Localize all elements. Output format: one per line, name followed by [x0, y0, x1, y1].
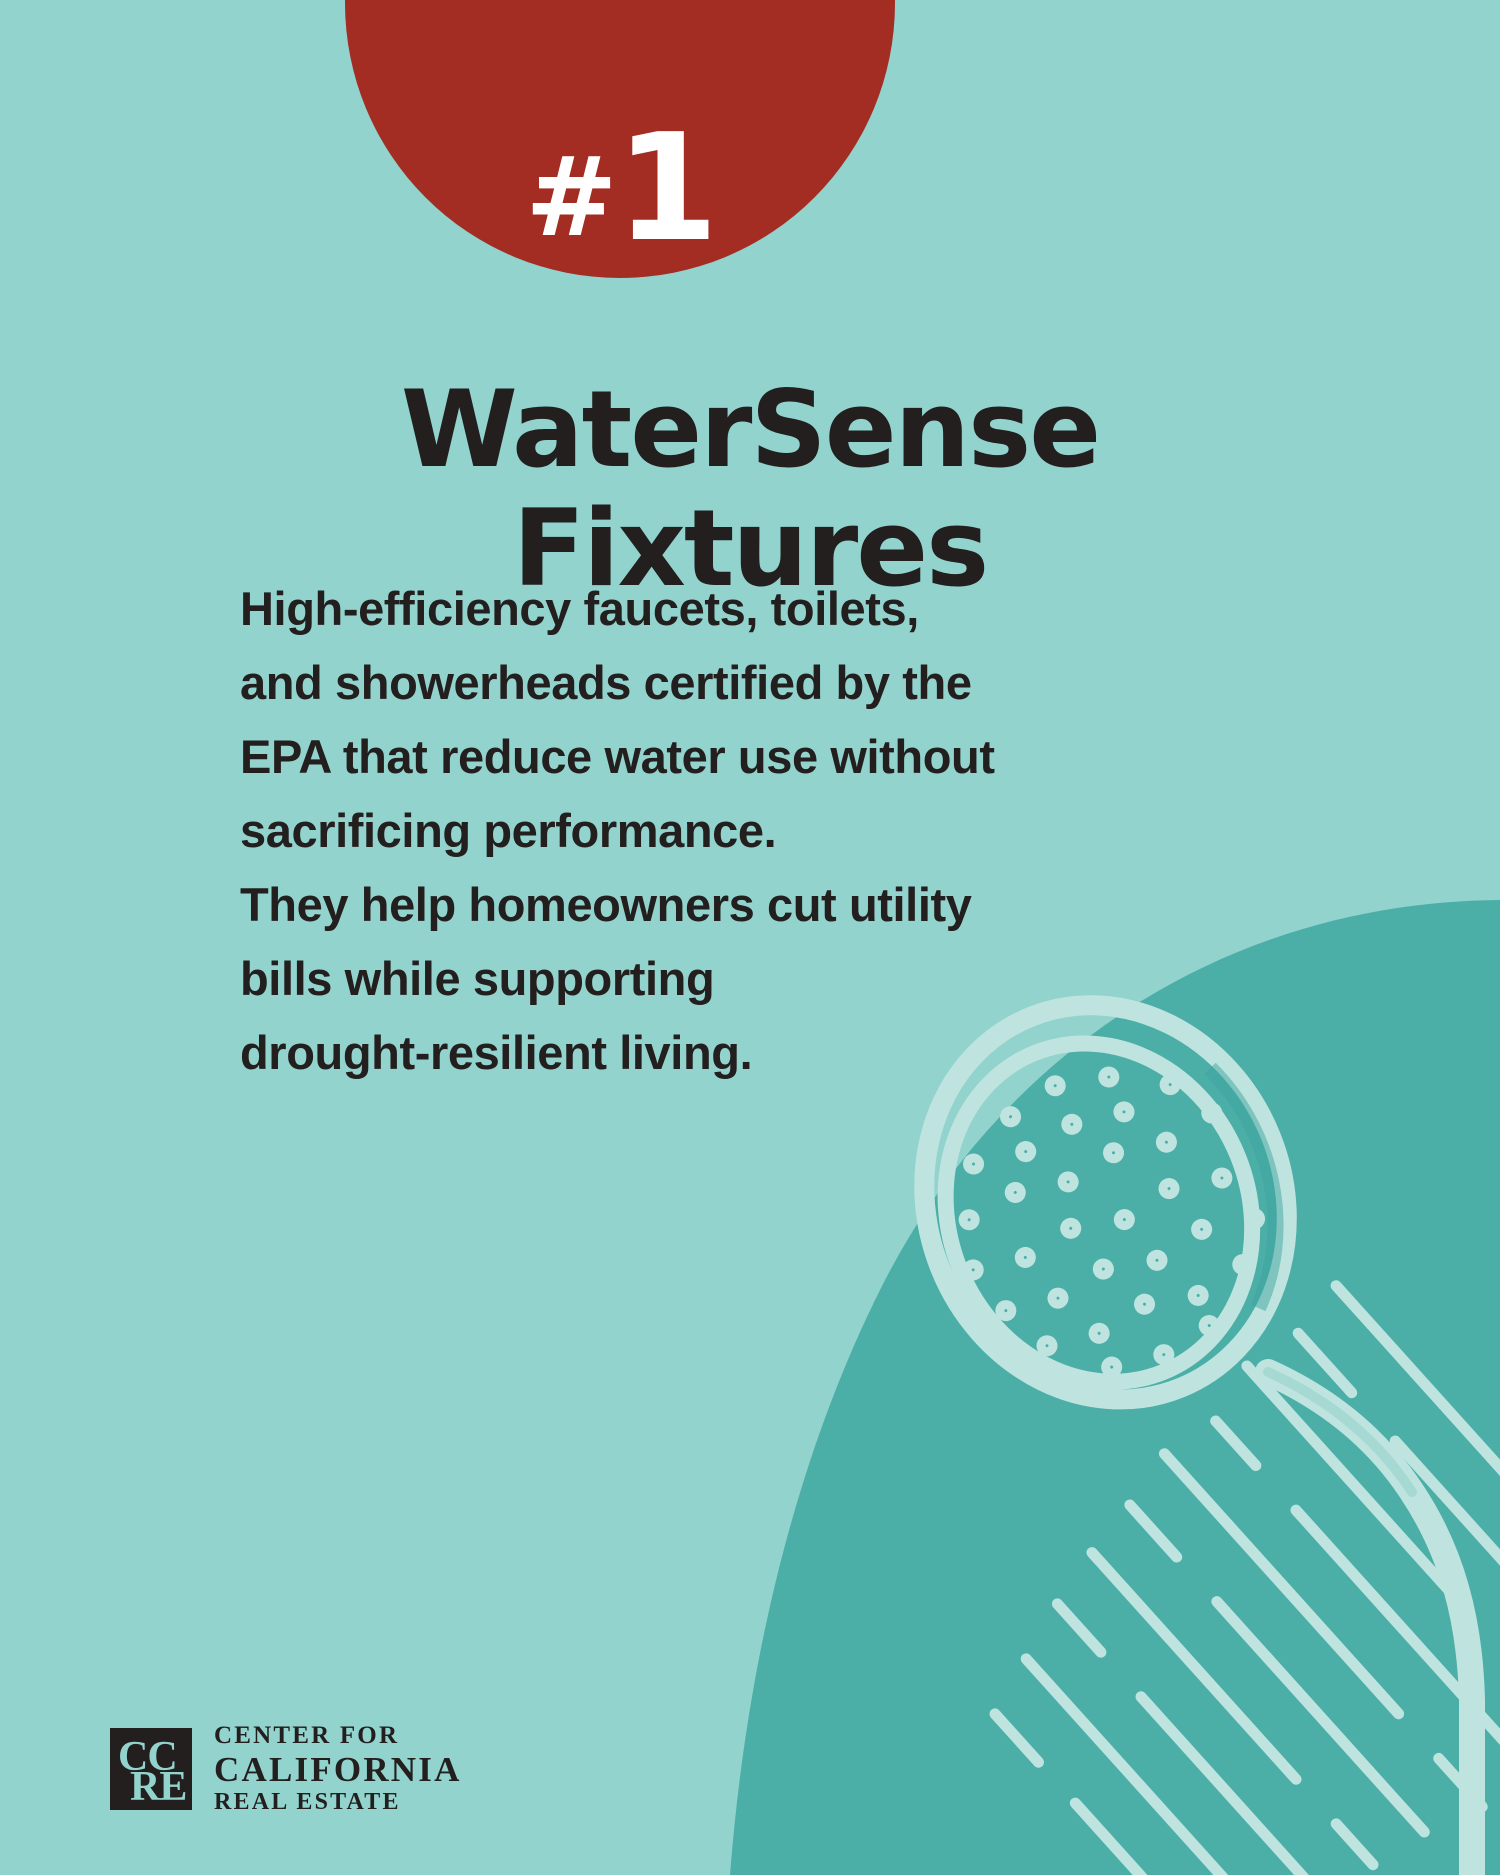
water-spray-lines [935, 1286, 1500, 1875]
rank-badge-label: #1 [525, 114, 714, 262]
body-copy: High-efficiency faucets, toilets, and sh… [240, 572, 1040, 1090]
logo-word-line-3: REAL ESTATE [214, 1789, 462, 1816]
rank-badge: #1 [345, 0, 895, 278]
body-line-2: and showerheads certified by the [240, 646, 1040, 720]
shower-handle [1268, 1372, 1472, 1875]
page-title-line-1: WaterSense [120, 371, 1380, 490]
ccre-logo-mark: CC RE [110, 1728, 192, 1810]
body-line-4: sacrificing performance. [240, 794, 1040, 868]
poster-canvas: #1 WaterSense Fixtures High-efficiency f… [0, 0, 1500, 1875]
logo-word-line-1: CENTER FOR [214, 1722, 462, 1750]
rank-number: 1 [616, 102, 715, 274]
ccre-logo-wordmark: CENTER FOR CALIFORNIA REAL ESTATE [214, 1722, 462, 1816]
ccre-logo: CC RE CENTER FOR CALIFORNIA REAL ESTATE [110, 1722, 462, 1816]
body-line-1: High-efficiency faucets, toilets, [240, 572, 1040, 646]
body-line-3: EPA that reduce water use without [240, 720, 1040, 794]
hash-icon: # [525, 133, 613, 261]
body-line-5: They help homeowners cut utility [240, 868, 1040, 942]
body-line-7: drought-resilient living. [240, 1016, 1040, 1090]
logo-word-line-2: CALIFORNIA [214, 1750, 462, 1789]
body-line-6: bills while supporting [240, 942, 1040, 1016]
logo-mark-re: RE [130, 1766, 186, 1808]
